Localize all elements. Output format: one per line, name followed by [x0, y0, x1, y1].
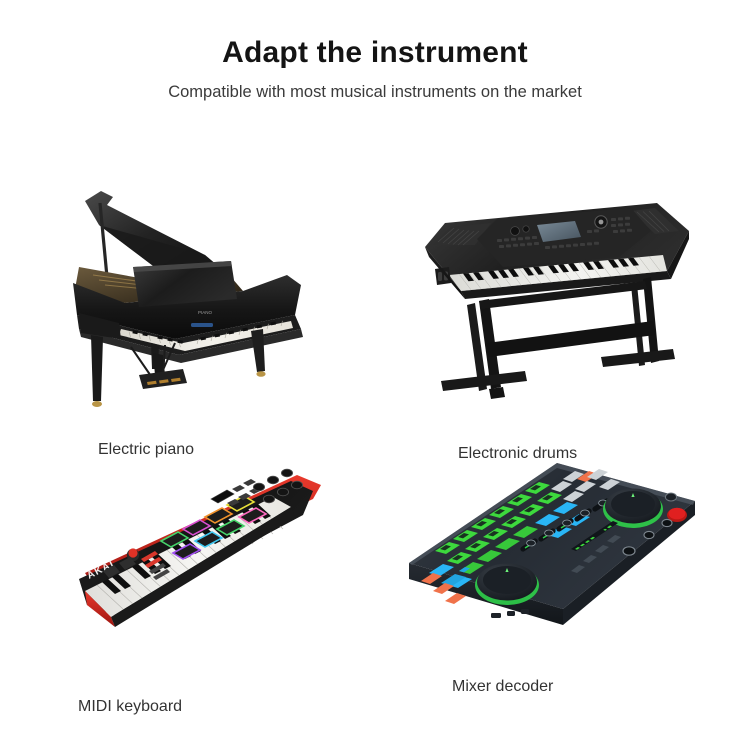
piano-leg-front-right [251, 329, 265, 372]
mixer-illustration [395, 445, 715, 645]
mixer-gain-knob [665, 493, 676, 501]
midi-knob-2 [267, 476, 278, 484]
stand-crossbar [487, 321, 655, 357]
piano-caster-front-left [92, 401, 102, 407]
midi-controller-illustration: AKAI [45, 455, 365, 655]
header: Adapt the instrument Compatible with mos… [0, 0, 750, 102]
piano-caster-front-right [256, 371, 265, 377]
caption-mixer-decoder: Mixer decoder [452, 678, 553, 696]
midi-joystick[interactable] [128, 548, 137, 557]
keyboard-pitch-wheel[interactable] [438, 272, 442, 281]
midi-knob-3 [281, 469, 292, 477]
caption-midi-keyboard: MIDI keyboard [78, 698, 182, 716]
keyboard-knob-left[interactable] [511, 227, 520, 236]
instrument-card-electric-piano: PIANO [55, 163, 355, 428]
midi-knob-5 [277, 488, 288, 496]
instrument-grid: PIANO [0, 145, 750, 745]
grand-piano-illustration: PIANO [55, 163, 355, 428]
instrument-card-electronic-drums: Electronic drums [405, 175, 705, 430]
keyboard-knob-left-2[interactable] [523, 226, 529, 232]
akai-midi-controller-photo: AKAI [45, 455, 365, 655]
mixer-line-jack [662, 519, 672, 526]
instrument-card-mixer-decoder: Mixer decoder [395, 445, 715, 645]
mixer-mic-jack [644, 531, 654, 538]
midi-display [211, 490, 234, 503]
keyboard-data-dial-center [599, 220, 604, 225]
mixer-jog-dial-left[interactable] [475, 564, 539, 606]
midi-knob-4 [263, 495, 274, 503]
stand-foot-joint-front [489, 387, 505, 399]
page-subtitle: Compatible with most musical instruments… [0, 70, 750, 102]
stand-rear-upright-right [643, 277, 659, 363]
live-sound-card-mixer-photo [395, 445, 715, 645]
mixer-front-ports[interactable] [491, 609, 529, 618]
grand-piano-photo: PIANO [55, 163, 355, 428]
midi-knob-1 [253, 483, 264, 491]
piano-brand-text: PIANO [198, 310, 213, 315]
arranger-keyboard-photo [405, 175, 705, 430]
midi-knob-6 [291, 481, 302, 489]
piano-leg-front-left [91, 335, 103, 401]
piano-brand-badge [191, 323, 213, 327]
page-title: Adapt the instrument [0, 0, 750, 70]
mixer-record-button[interactable] [669, 508, 686, 520]
instrument-card-midi-keyboard: AKAI [45, 455, 365, 655]
mixer-headphone-jack [623, 547, 635, 555]
arranger-keyboard-illustration [405, 175, 705, 430]
